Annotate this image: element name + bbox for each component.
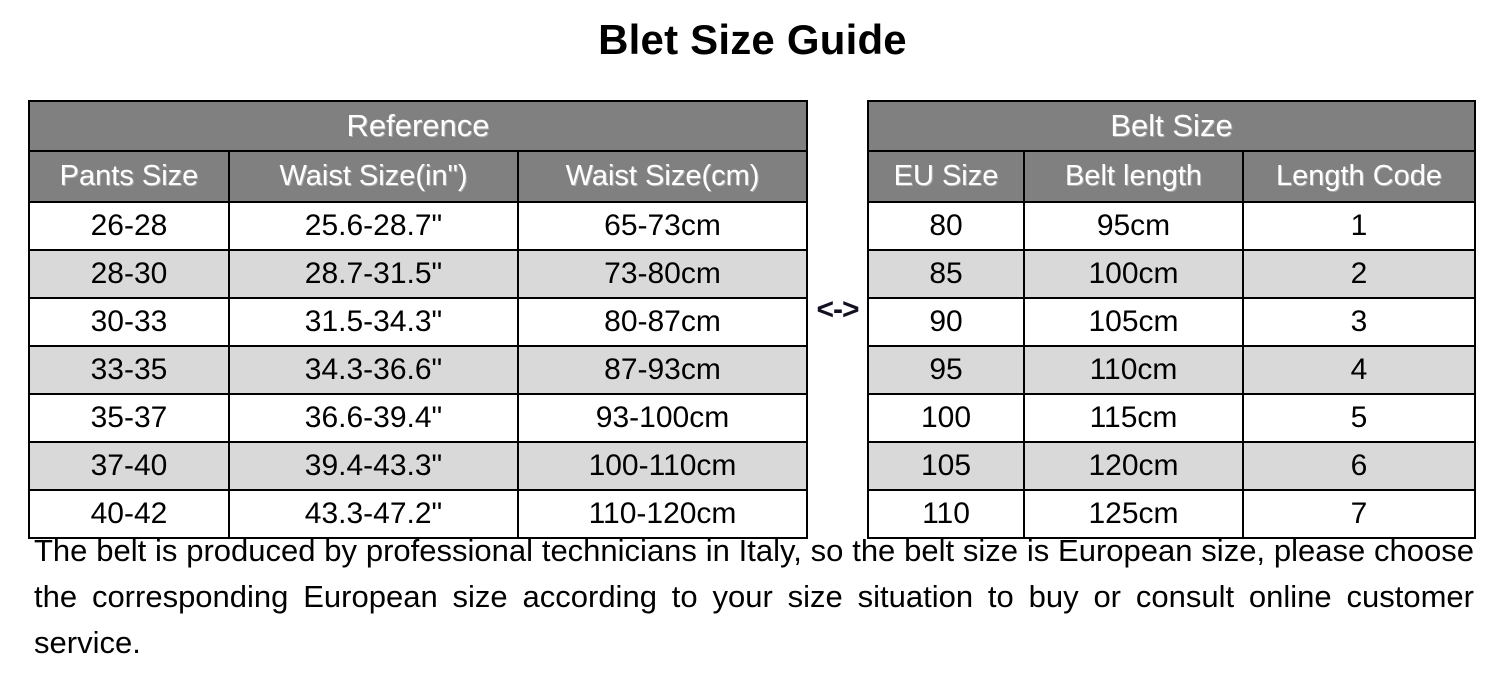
reference-table: Reference Pants Size Waist Size(in") Wai…	[28, 100, 808, 539]
cell-pants-size: 33-35	[29, 346, 229, 394]
cell-eu-size: 100	[868, 394, 1024, 442]
cell-waist-cm: 73-80cm	[518, 250, 807, 298]
cell-eu-size: 85	[868, 250, 1024, 298]
cell-eu-size: 105	[868, 442, 1024, 490]
column-header-pants-size: Pants Size	[29, 151, 229, 202]
table-row: 95 110cm 4	[868, 346, 1475, 394]
table-row: 33-35 34.3-36.6" 87-93cm	[29, 346, 807, 394]
cell-belt-length: 110cm	[1024, 346, 1243, 394]
cell-eu-size: 95	[868, 346, 1024, 394]
cell-eu-size: 90	[868, 298, 1024, 346]
column-header-eu-size: EU Size	[868, 151, 1024, 202]
size-guide-page: Blet Size Guide Reference Pants Size Wai…	[0, 0, 1505, 680]
cell-waist-in: 28.7-31.5"	[229, 250, 518, 298]
cell-waist-cm: 93-100cm	[518, 394, 807, 442]
cell-waist-in: 36.6-39.4"	[229, 394, 518, 442]
reference-column-header-row: Pants Size Waist Size(in") Waist Size(cm…	[29, 151, 807, 202]
size-tables-container: Reference Pants Size Waist Size(in") Wai…	[28, 100, 1472, 519]
cell-belt-length: 120cm	[1024, 442, 1243, 490]
cell-waist-in: 34.3-36.6"	[229, 346, 518, 394]
table-row: 30-33 31.5-34.3" 80-87cm	[29, 298, 807, 346]
belt-size-table-head: Belt Size EU Size Belt length Length Cod…	[868, 101, 1475, 202]
cell-waist-in: 39.4-43.3"	[229, 442, 518, 490]
table-row: 105 120cm 6	[868, 442, 1475, 490]
cell-length-code: 5	[1243, 394, 1475, 442]
reference-table-body: 26-28 25.6-28.7" 65-73cm 28-30 28.7-31.5…	[29, 202, 807, 538]
cell-belt-length: 105cm	[1024, 298, 1243, 346]
cell-pants-size: 28-30	[29, 250, 229, 298]
table-row: 28-30 28.7-31.5" 73-80cm	[29, 250, 807, 298]
cell-waist-cm: 65-73cm	[518, 202, 807, 250]
cell-waist-cm: 100-110cm	[518, 442, 807, 490]
table-row: 37-40 39.4-43.3" 100-110cm	[29, 442, 807, 490]
cell-length-code: 6	[1243, 442, 1475, 490]
cell-pants-size: 30-33	[29, 298, 229, 346]
column-header-waist-size-cm: Waist Size(cm)	[518, 151, 807, 202]
cell-belt-length: 115cm	[1024, 394, 1243, 442]
belt-size-table: Belt Size EU Size Belt length Length Cod…	[867, 100, 1476, 539]
cell-length-code: 1	[1243, 202, 1475, 250]
cell-length-code: 3	[1243, 298, 1475, 346]
cell-length-code: 4	[1243, 346, 1475, 394]
belt-size-table-body: 80 95cm 1 85 100cm 2 90 105cm 3 95 110cm	[868, 202, 1475, 538]
cell-pants-size: 37-40	[29, 442, 229, 490]
table-row: 35-37 36.6-39.4" 93-100cm	[29, 394, 807, 442]
cell-belt-length: 100cm	[1024, 250, 1243, 298]
cell-belt-length: 95cm	[1024, 202, 1243, 250]
table-row: 100 115cm 5	[868, 394, 1475, 442]
table-row: 90 105cm 3	[868, 298, 1475, 346]
reference-group-header: Reference	[29, 101, 807, 151]
table-row: 26-28 25.6-28.7" 65-73cm	[29, 202, 807, 250]
belt-group-header: Belt Size	[868, 101, 1475, 151]
column-header-length-code: Length Code	[1243, 151, 1475, 202]
belt-column-header-row: EU Size Belt length Length Code	[868, 151, 1475, 202]
cell-pants-size: 26-28	[29, 202, 229, 250]
table-row: 85 100cm 2	[868, 250, 1475, 298]
table-row: 80 95cm 1	[868, 202, 1475, 250]
page-title: Blet Size Guide	[0, 14, 1505, 66]
column-header-belt-length: Belt length	[1024, 151, 1243, 202]
reference-table-head: Reference Pants Size Waist Size(in") Wai…	[29, 101, 807, 202]
cell-waist-in: 25.6-28.7"	[229, 202, 518, 250]
belt-group-header-row: Belt Size	[868, 101, 1475, 151]
cell-waist-cm: 80-87cm	[518, 298, 807, 346]
footer-note: The belt is produced by professional tec…	[34, 528, 1474, 666]
cell-waist-in: 31.5-34.3"	[229, 298, 518, 346]
maps-to-arrow-icon: <->	[808, 100, 867, 519]
cell-eu-size: 80	[868, 202, 1024, 250]
reference-group-header-row: Reference	[29, 101, 807, 151]
column-header-waist-size-in: Waist Size(in")	[229, 151, 518, 202]
cell-pants-size: 35-37	[29, 394, 229, 442]
cell-length-code: 2	[1243, 250, 1475, 298]
tables-connector: <->	[808, 100, 867, 519]
cell-waist-cm: 87-93cm	[518, 346, 807, 394]
